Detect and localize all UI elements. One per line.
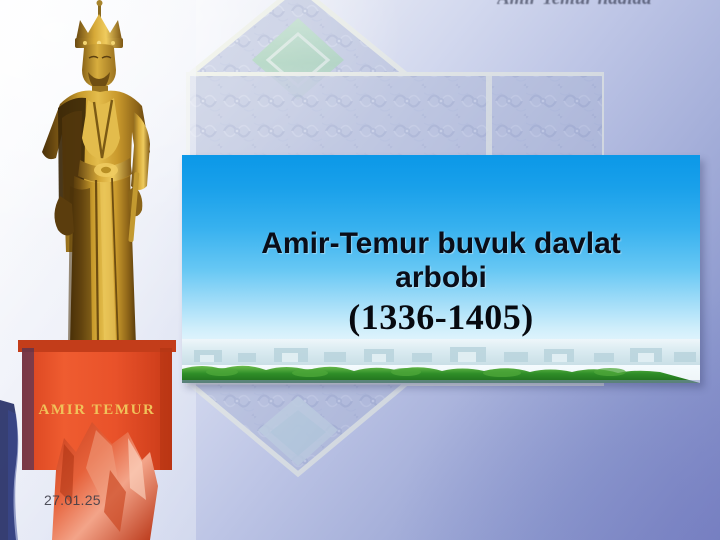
title-line-3-years: (1336-1405): [348, 297, 533, 337]
title-text-box: Amir-Temur buvuk davlat arbobi (1336-140…: [182, 155, 700, 383]
svg-text:AMIR TEMUR: AMIR TEMUR: [39, 402, 156, 418]
title-text-group: Amir-Temur buvuk davlat arbobi (1336-140…: [182, 155, 700, 383]
date-stamp: 27.01.25: [44, 492, 101, 508]
title-line-2: arbobi: [395, 261, 487, 295]
cut-off-header-text: Amir Temur haqida: [497, 0, 720, 4]
presentation-slide: AMIR TEMUR Amir Temur haqida 27.01.25: [0, 0, 720, 540]
amir-temur-statue: AMIR TEMUR: [0, 0, 196, 540]
title-line-1: Amir-Temur buvuk davlat: [261, 227, 621, 261]
